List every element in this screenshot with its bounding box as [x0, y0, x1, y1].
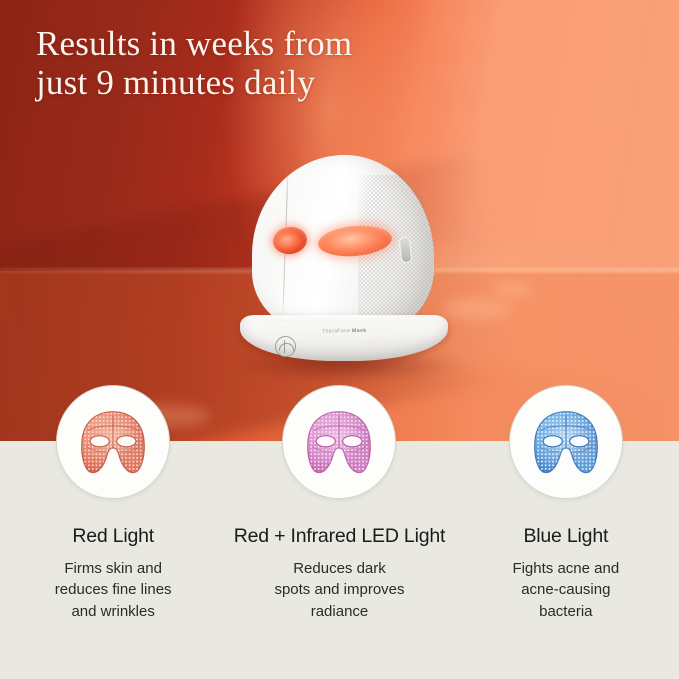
red-light-mask-icon	[76, 408, 150, 476]
led-face-mask-device-icon: TheraFace Mask	[240, 155, 450, 370]
feature-title: Red + Infrared LED Light	[226, 525, 452, 548]
page-title: Results in weeks from just 9 minutes dai…	[36, 24, 506, 102]
therabody-roundel-icon	[275, 336, 296, 357]
product-brand-label: TheraFace Mask	[322, 327, 392, 334]
red-infrared-led-light-mask-icon	[302, 408, 376, 476]
feature-thumb-circle	[509, 385, 623, 499]
light-modes-panel: Red Light Firms skin and reduces fine li…	[0, 441, 679, 679]
floor-highlight-blob	[443, 298, 511, 320]
feature-title: Blue Light	[453, 525, 679, 548]
floor-highlight-blob	[492, 282, 532, 297]
product-brand-label-bold: Mask	[352, 328, 366, 334]
feature-thumb-circle	[282, 385, 396, 499]
feature-title: Red Light	[0, 525, 226, 548]
hero-scene: Results in weeks from just 9 minutes dai…	[0, 0, 679, 441]
feature-description: Firms skin and reduces fine lines and wr…	[0, 558, 226, 622]
feature-description: Reduces dark spots and improves radiance	[226, 558, 452, 622]
product-brand-label-prefix: TheraFace	[322, 328, 352, 335]
product-marketing-image: Results in weeks from just 9 minutes dai…	[0, 0, 679, 679]
feature-description: Fights acne and acne-causing bacteria	[453, 558, 679, 622]
feature-thumb-circle	[56, 385, 170, 499]
blue-light-mask-icon	[529, 408, 603, 476]
mask-base-edge	[246, 315, 442, 322]
